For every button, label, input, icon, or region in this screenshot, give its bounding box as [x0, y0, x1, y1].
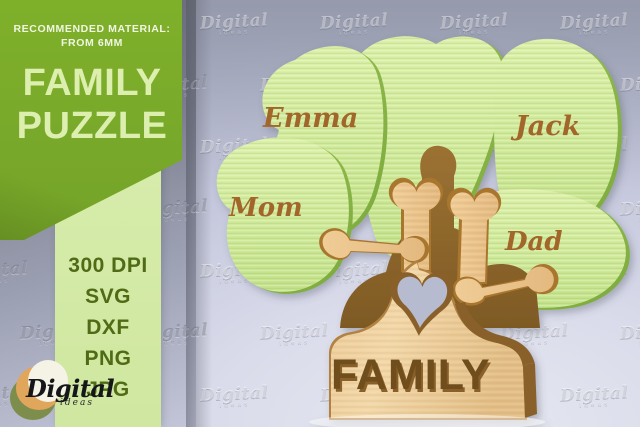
logo-subtext: ideas	[60, 398, 94, 408]
format-item: 300 DPI	[55, 250, 161, 281]
engraved-name-emma: Emma	[262, 103, 358, 134]
engraved-name-dad: Dad	[504, 227, 563, 257]
family-tree-artwork: Emma Jack Mom	[205, 22, 635, 422]
foliage-piece-mom: Mom	[217, 137, 353, 294]
engraved-name-jack: Jack	[510, 111, 580, 142]
brand-logo: Digital ideas	[4, 358, 134, 420]
page-title-line-2: PUZZLE	[6, 105, 178, 148]
format-item: DXF	[55, 312, 161, 343]
base-word-family-text: FAMILY	[331, 351, 491, 399]
engraved-name-mom: Mom	[228, 193, 303, 223]
recommended-material-text: RECOMMENDED MATERIAL: FROM 6MM	[8, 22, 176, 50]
recommended-material-line-2: FROM 6MM	[8, 36, 176, 50]
page-title: FAMILY PUZZLE	[6, 62, 178, 148]
base-word-family: FAMILY FAMILY	[331, 351, 493, 402]
format-item: SVG	[55, 281, 161, 312]
recommended-material-line-1: RECOMMENDED MATERIAL:	[8, 22, 176, 36]
poster-canvas: DigitalideasDigitalideasDigitalideasDigi…	[0, 0, 640, 427]
page-title-line-1: FAMILY	[6, 62, 178, 105]
